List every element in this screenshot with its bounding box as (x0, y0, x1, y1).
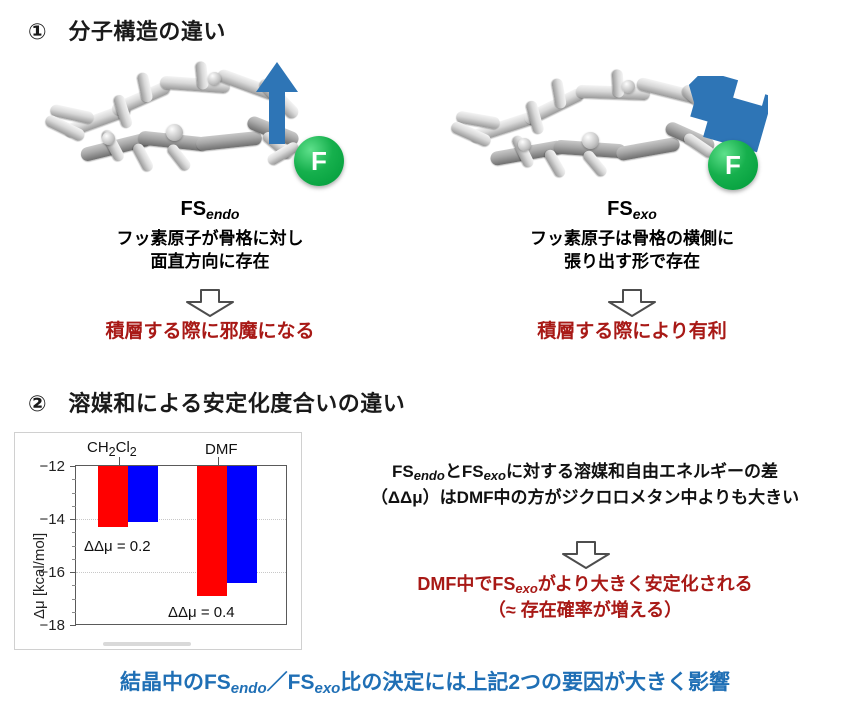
section-1-heading: ① 分子構造の違い (28, 14, 226, 46)
fluorine-label: F (725, 152, 741, 178)
section-2-marker: ② (28, 391, 47, 416)
bottom-pre: 結晶中のFS (120, 671, 231, 694)
description-line-1: フッ素原子は骨格の横側に (432, 228, 832, 251)
bottom-conclusion: 結晶中のFSendo／FSexo比の決定には上記2つの要因が大きく影響 (0, 666, 850, 697)
bar-dmf-endo (197, 466, 227, 596)
molecule-description-endo: フッ素原子が骨格に対し 面直方向に存在 (10, 228, 410, 274)
molecule-description-exo: フッ素原子は骨格の横側に 張り出す形で存在 (432, 228, 832, 274)
molecule-structure-exo: F (432, 48, 832, 188)
y-tick-label-3: −18 (31, 618, 65, 633)
flow-arrow-down-endo (180, 288, 240, 318)
slide-root: ① 分子構造の違い (0, 0, 850, 713)
description-line-2: 張り出す形で存在 (432, 251, 832, 274)
molecule-block-exo: F FSexo フッ素原子は骨格の横側に 張り出す形で存在 積層する際により有利 (432, 48, 832, 188)
explanation-line-1: FSendoとFSexoに対する溶媒和自由エネルギーの差 (320, 460, 850, 486)
molecule-structure-endo: F (10, 48, 410, 188)
bar-ch2cl2-exo (128, 466, 158, 522)
molecule-name-sub: endo (206, 206, 239, 222)
explanation-text: FSendoとFSexoに対する溶媒和自由エネルギーの差 （ΔΔμ）はDMF中の… (320, 460, 850, 510)
molecule-name-base: FS (607, 198, 633, 220)
fluorine-atom-endo: F (294, 136, 344, 186)
molecule-conclusion-exo: 積層する際により有利 (432, 316, 832, 343)
group-label-ch2cl2: CH2Cl2 (87, 439, 137, 459)
fluorine-label: F (311, 148, 327, 174)
description-line-1: フッ素原子が骨格に対し (10, 228, 410, 251)
molecule-name-endo: FSendo (10, 198, 410, 222)
y-tick-label-0: −12 (31, 459, 65, 474)
flow-arrow-down-solvation (556, 540, 616, 570)
bar-dmf-exo (227, 466, 257, 583)
molecule-block-endo: F FSendo フッ素原子が骨格に対し 面直方向に存在 積層する際に邪魔になる (10, 48, 410, 188)
explanation-line-2: （ΔΔμ）はDMF中の方がジクロロメタン中よりも大きい (320, 486, 850, 511)
section-1-title: 分子構造の違い (68, 19, 226, 44)
direction-arrow-up (254, 60, 300, 146)
bottom-slash: ／FS (267, 671, 315, 694)
section-2-title: 溶媒和による安定化度合いの違い (68, 391, 405, 416)
y-tick-label-2: −16 (31, 565, 65, 580)
molecule-name-base: FS (180, 198, 206, 220)
red-conclusion-text: DMF中でFSexoがより大きく安定化される （≈ 存在確率が増える） (320, 572, 850, 623)
group-label-dmf: DMF (205, 441, 238, 458)
flow-arrow-down-exo (602, 288, 662, 318)
chart-plot-area: ΔΔμ = 0.2 ΔΔμ = 0.4 (75, 465, 287, 625)
bottom-sub-1: endo (231, 680, 267, 697)
y-tick-label-1: −14 (31, 512, 65, 527)
section-2-heading: ② 溶媒和による安定化度合いの違い (28, 386, 405, 418)
annotation-dmf: ΔΔμ = 0.4 (168, 604, 235, 621)
section-1-marker: ① (28, 19, 47, 44)
bottom-post: 比の決定には上記2つの要因が大きく影響 (340, 671, 730, 694)
red-conclusion-line-2: （≈ 存在確率が増える） (320, 598, 850, 623)
description-line-2: 面直方向に存在 (10, 251, 410, 274)
molecule-name-exo: FSexo (432, 198, 832, 222)
red-conclusion-line-1: DMF中でFSexoがより大きく安定化される (320, 572, 850, 598)
bar-ch2cl2-endo (98, 466, 128, 527)
fluorine-atom-exo: F (708, 140, 758, 190)
annotation-ch2cl2: ΔΔμ = 0.2 (84, 538, 151, 555)
molecule-name-sub: exo (633, 206, 657, 222)
bottom-sub-2: exo (314, 680, 340, 697)
molecule-conclusion-endo: 積層する際に邪魔になる (10, 316, 410, 343)
solvation-bar-chart: Δμ [kcal/mol] −12 −14 −16 −18 CH2Cl2 DMF (14, 432, 302, 650)
chart-base-plate (103, 642, 191, 646)
